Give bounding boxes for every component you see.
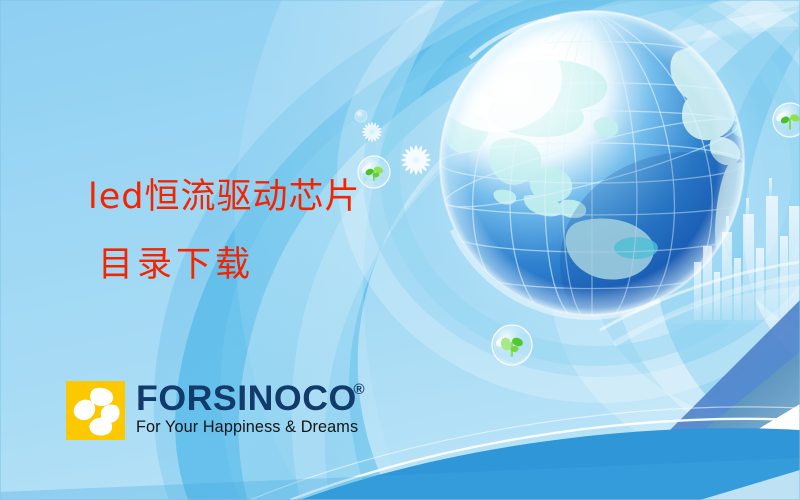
- bubble-sprout-bottom-icon: [492, 325, 532, 365]
- logo-company-name: FORSINOCO: [136, 381, 357, 416]
- bubble-small-icon: [355, 110, 367, 122]
- bubble-sprout-right-icon: [773, 103, 800, 137]
- four-petal-flower-icon: [66, 381, 125, 440]
- sparkle-star-small-icon: [362, 122, 382, 142]
- logo-wordmark: FORSINOCO ®: [136, 381, 365, 416]
- logo-text-block: FORSINOCO ® For Your Happiness & Dreams: [136, 381, 365, 436]
- logo-tagline: For Your Happiness & Dreams: [136, 419, 358, 436]
- sparkle-star-large-icon: [401, 145, 431, 175]
- bubble-sprout-left-icon: [358, 156, 390, 188]
- poster-canvas: led恒流驱动芯片 目录下载 FORSINOCO ® For Your Happ…: [0, 0, 800, 500]
- company-logo: FORSINOCO ® For Your Happiness & Dreams: [66, 381, 365, 440]
